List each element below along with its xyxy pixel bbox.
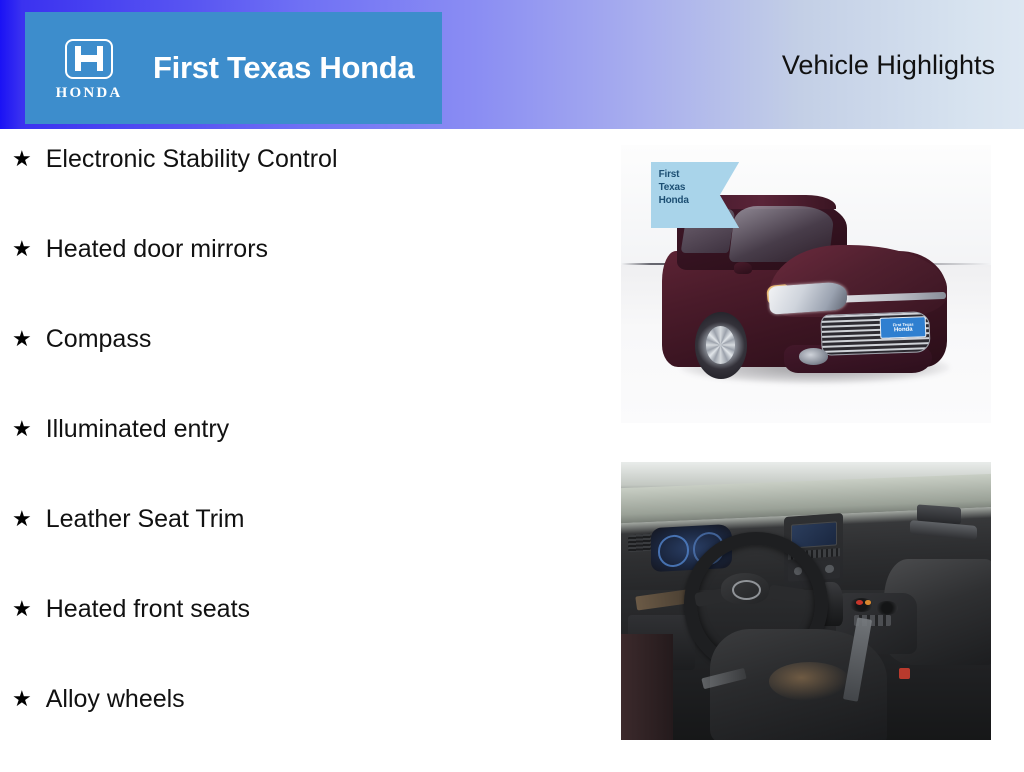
highlight-label: Illuminated entry xyxy=(46,412,229,446)
dealer-name: First Texas Honda xyxy=(153,50,414,86)
list-item: ★ Heated front seats xyxy=(0,592,600,682)
honda-logo-block: HONDA xyxy=(25,35,153,102)
honda-h-emblem-icon xyxy=(65,39,113,79)
ribbon-line-1: First xyxy=(659,168,740,181)
side-mirror xyxy=(734,262,753,275)
headlight xyxy=(768,281,847,314)
fog-light xyxy=(799,348,829,365)
dealer-license-plate: First Texas Honda xyxy=(880,317,927,340)
star-bullet-icon: ★ xyxy=(12,412,32,446)
star-bullet-icon: ★ xyxy=(12,592,32,626)
highlight-label: Heated front seats xyxy=(46,592,250,626)
hazard-button xyxy=(856,600,863,605)
vehicle-exterior-photo: First Texas Honda First Texas Honda xyxy=(621,145,991,423)
list-item: ★ Compass xyxy=(0,322,600,412)
steering-wheel-emblem xyxy=(721,573,769,604)
vehicle-interior-photo xyxy=(621,462,991,740)
list-item: ★ Leather Seat Trim xyxy=(0,502,600,592)
list-item: ★ Electronic Stability Control xyxy=(0,142,600,232)
leather-highlight xyxy=(769,662,850,701)
page-title: Vehicle Highlights xyxy=(782,50,995,81)
highlight-label: Heated door mirrors xyxy=(46,232,268,266)
list-item: ★ Heated door mirrors xyxy=(0,232,600,322)
star-bullet-icon: ★ xyxy=(12,142,32,176)
highlight-label: Leather Seat Trim xyxy=(46,502,245,536)
list-item: ★ Illuminated entry xyxy=(0,412,600,502)
seat-belt-buckle xyxy=(899,668,910,679)
console-button xyxy=(865,600,871,604)
star-bullet-icon: ★ xyxy=(12,682,32,716)
highlight-label: Alloy wheels xyxy=(46,682,185,716)
vehicle-highlights-list: ★ Electronic Stability Control ★ Heated … xyxy=(0,142,600,772)
front-wheel xyxy=(695,312,747,379)
highlight-label: Compass xyxy=(46,322,152,356)
dealer-banner: HONDA First Texas Honda xyxy=(25,12,442,124)
plate-line-2: Honda xyxy=(894,327,913,335)
driver-door-panel xyxy=(621,634,673,740)
highlight-label: Electronic Stability Control xyxy=(46,142,338,176)
honda-wordmark: HONDA xyxy=(56,85,123,102)
page-header: HONDA First Texas Honda Vehicle Highligh… xyxy=(0,0,1024,129)
star-bullet-icon: ★ xyxy=(12,232,32,266)
star-bullet-icon: ★ xyxy=(12,322,32,356)
star-bullet-icon: ★ xyxy=(12,502,32,536)
list-item: ★ Alloy wheels xyxy=(0,682,600,772)
